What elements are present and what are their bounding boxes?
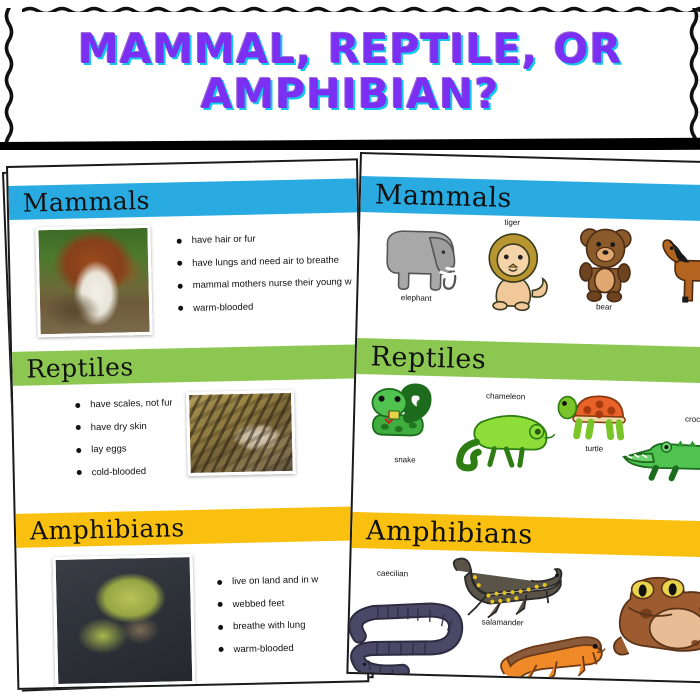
bear-icon	[568, 224, 642, 304]
section-heading-reptiles: Reptiles	[370, 343, 486, 373]
reptile-examples-row: snake chameleon	[353, 374, 700, 515]
list-item: have hair or fur	[177, 233, 351, 246]
amphibian-fact-list: live on land and in w webbed feet breath…	[217, 575, 320, 667]
list-item: warm-blooded	[178, 300, 352, 313]
section-heading-amphibians: Amphibians	[30, 515, 185, 543]
animal-label: elephant	[370, 292, 462, 303]
list-item: warm-blooded	[218, 643, 319, 655]
example-horse[interactable]: horse	[646, 232, 700, 311]
section-heading-reptiles: Reptiles	[26, 354, 134, 381]
mammal-fact-list: have hair or fur have lungs and need air…	[177, 233, 353, 327]
animal-label: crocodile	[685, 415, 700, 425]
snake-icon	[362, 380, 450, 456]
horse-icon	[646, 232, 700, 310]
section-heading-mammals: Mammals	[375, 181, 513, 212]
example-newt[interactable]: newt	[496, 624, 618, 684]
example-bear[interactable]: bear	[568, 224, 642, 313]
lion-icon	[470, 227, 552, 313]
list-item: breathe with lung	[218, 620, 319, 632]
section-body-reptiles: have scales, not fur have dry skin lay e…	[13, 378, 363, 496]
example-snake[interactable]: snake	[362, 380, 450, 465]
animal-label: newt	[546, 679, 563, 683]
rattlesnake-photo	[186, 390, 296, 476]
example-elephant[interactable]: elephant	[370, 220, 464, 303]
list-item: have lungs and need air to breathe	[177, 255, 351, 268]
facts-poster[interactable]: Mammals have hair or fur have lungs and …	[6, 158, 369, 690]
example-salamander[interactable]: salamander	[442, 556, 574, 631]
title-text-block: MAMMAL, REPTILE, OR AMPHIBIAN?	[0, 6, 700, 138]
mammal-examples-row: elephant tiger	[357, 212, 700, 343]
example-crocodile[interactable]: crocodile	[615, 427, 700, 485]
page-title-line-2: AMPHIBIAN?	[201, 73, 499, 116]
list-item: have dry skin	[76, 421, 174, 433]
section-body-amphibians: live on land and in w webbed feet breath…	[16, 540, 367, 690]
list-item: cold-blooded	[77, 466, 175, 478]
newt-icon	[496, 624, 610, 684]
list-item: webbed feet	[218, 598, 319, 610]
section-body-mammals: have hair or fur have lungs and need air…	[9, 212, 360, 342]
page-title-line-1: MAMMAL, REPTILE, OR	[78, 28, 622, 71]
animal-label: snake	[362, 454, 448, 465]
poster-stage: MAMMAL, REPTILE, OR AMPHIBIAN? Mammals h…	[0, 0, 700, 700]
list-item: lay eggs	[76, 443, 174, 455]
cow-and-calf-photo	[35, 225, 152, 337]
animal-label: bear	[568, 302, 640, 313]
animal-label: chameleon	[452, 390, 560, 402]
reptile-fact-list: have scales, not fur have dry skin lay e…	[75, 398, 174, 490]
section-heading-mammals: Mammals	[23, 187, 151, 215]
examples-poster[interactable]: Mammals elephant tiger	[346, 152, 700, 683]
title-banner: MAMMAL, REPTILE, OR AMPHIBIAN?	[0, 0, 700, 150]
example-toad[interactable]: toad	[605, 565, 700, 661]
list-item: live on land and in w	[217, 575, 318, 587]
list-item: mammal mothers nurse their young w	[178, 277, 352, 290]
example-tiger[interactable]: tiger	[470, 217, 552, 313]
crocodile-icon	[615, 427, 700, 485]
banner-bottom-rule	[0, 138, 700, 150]
amphibian-examples-row: caecilian	[347, 548, 700, 683]
green-tree-frog-photo	[53, 554, 196, 687]
example-chameleon[interactable]: chameleon	[450, 390, 560, 476]
animal-label: caecilian	[377, 569, 408, 579]
toad-icon	[605, 565, 700, 660]
section-heading-amphibians: Amphibians	[366, 517, 533, 548]
chameleon-icon	[450, 401, 560, 476]
list-item: have scales, not fur	[75, 398, 173, 410]
elephant-icon	[370, 220, 464, 294]
